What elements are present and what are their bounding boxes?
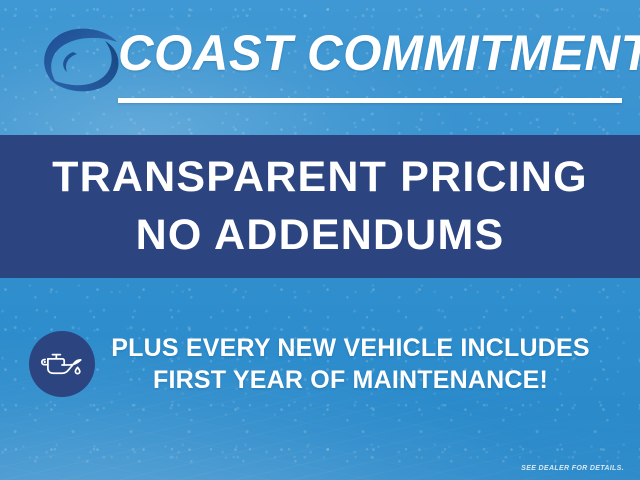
oil-can-icon-badge (29, 331, 95, 397)
coast-wave-swirl-logo-icon (33, 22, 125, 102)
coast-commitment-banner: COAST COMMITMENT TRANSPARENT PRICING NO … (0, 0, 640, 480)
bonus-offer-text: PLUS EVERY NEW VEHICLE INCLUDES FIRST YE… (95, 332, 640, 396)
bonus-line-2: FIRST YEAR OF MAINTENANCE! (95, 364, 606, 396)
header-divider (118, 98, 622, 103)
bonus-line-1: PLUS EVERY NEW VEHICLE INCLUDES (95, 332, 606, 364)
banner-header: COAST COMMITMENT (0, 0, 640, 135)
promise-band: TRANSPARENT PRICING NO ADDENDUMS (0, 135, 640, 278)
disclaimer-text: SEE DEALER FOR DETAILS. (521, 465, 624, 472)
oil-can-icon (40, 348, 84, 381)
bonus-offer-row: PLUS EVERY NEW VEHICLE INCLUDES FIRST YE… (0, 330, 640, 398)
promise-line-no-addendums: NO ADDENDUMS (136, 213, 505, 258)
page-title: COAST COMMITMENT (118, 22, 618, 84)
promise-line-transparent-pricing: TRANSPARENT PRICING (52, 155, 588, 200)
